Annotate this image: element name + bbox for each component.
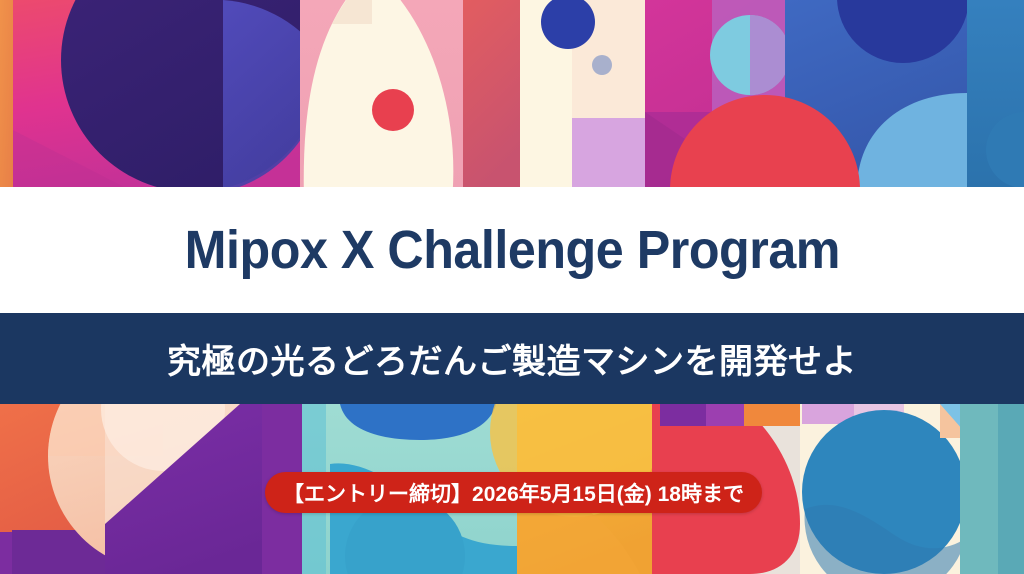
entry-deadline-label: 【エントリー締切】2026年5月15日(金) 18時まで <box>283 478 744 508</box>
title-band: Mipox X Challenge Program <box>0 187 1024 313</box>
subtitle-band: 究極の光るどろだんご製造マシンを開発せよ <box>0 313 1024 404</box>
top-abstract-graphic <box>0 0 1024 190</box>
promo-banner: Mipox X Challenge Program 究極の光るどろだんご製造マシ… <box>0 0 1024 574</box>
page-title: Mipox X Challenge Program <box>184 219 839 281</box>
entry-deadline-badge: 【エントリー締切】2026年5月15日(金) 18時まで <box>265 472 762 513</box>
top-artwork <box>0 0 1024 190</box>
page-subtitle: 究極の光るどろだんご製造マシンを開発せよ <box>167 334 857 383</box>
